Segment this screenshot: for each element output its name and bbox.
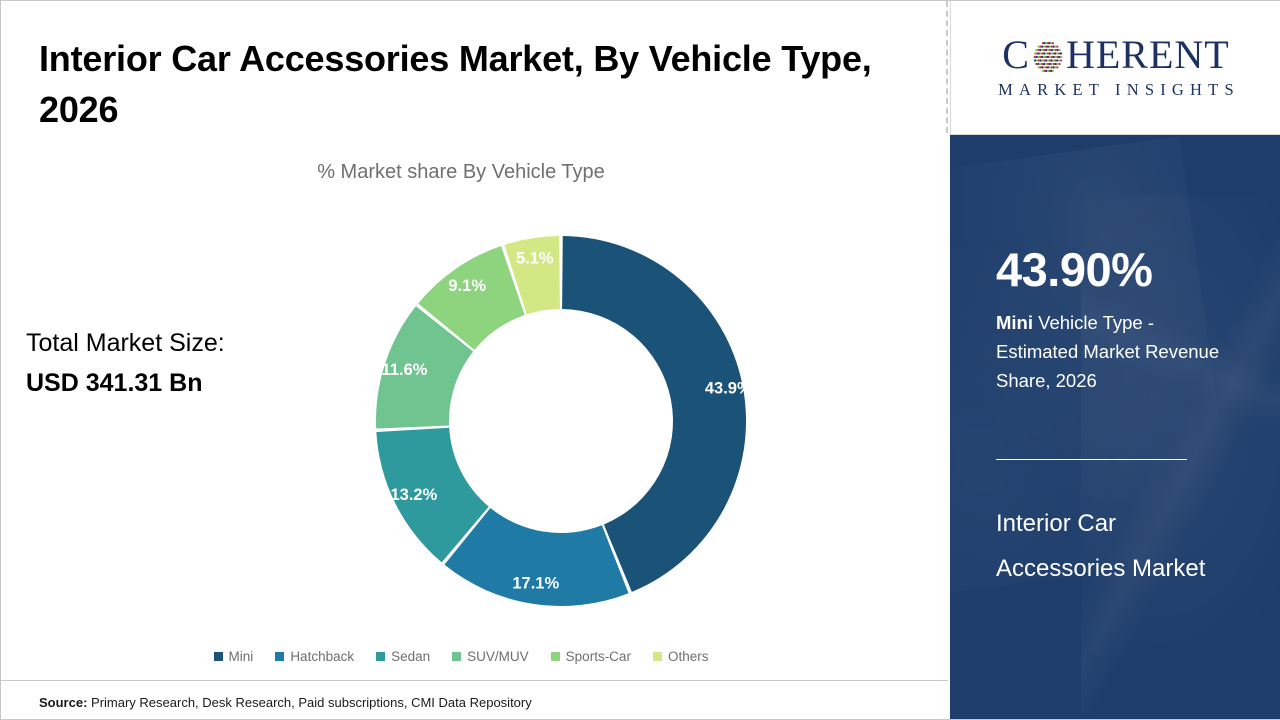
- donut-slice-label: 11.6%: [382, 361, 428, 379]
- source-line: Source: Primary Research, Desk Research,…: [39, 695, 532, 710]
- chart-area: Interior Car Accessories Market, By Vehi…: [1, 1, 948, 719]
- logo-letters-herent: HERENT: [1066, 35, 1230, 75]
- brand-logo: C HERENT MARKET INSIGHTS: [950, 1, 1280, 135]
- donut-slice-label: 9.1%: [448, 277, 486, 295]
- logo-tagline: MARKET INSIGHTS: [992, 80, 1240, 100]
- donut-slice-label: 13.2%: [391, 486, 438, 504]
- legend-swatch-icon: [376, 652, 385, 661]
- dotted-globe-svg: [1031, 40, 1065, 74]
- legend-swatch-icon: [214, 652, 223, 661]
- total-market-size-block: Total Market Size: USD 341.31 Bn: [26, 323, 316, 403]
- legend-label: SUV/MUV: [467, 649, 529, 664]
- donut-slice-label: 17.1%: [512, 575, 559, 593]
- legend-item-mini[interactable]: Mini: [214, 649, 254, 664]
- legend-label: Sports-Car: [566, 649, 631, 664]
- legend-swatch-icon: [551, 652, 560, 661]
- legend-label: Sedan: [391, 649, 430, 664]
- dotted-globe-icon: [1031, 40, 1065, 74]
- legend-item-hatchback[interactable]: Hatchback: [275, 649, 354, 664]
- donut-chart-svg: 43.9%17.1%13.2%11.6%9.1%5.1%: [361, 221, 761, 621]
- donut-slice-label: 43.9%: [705, 380, 752, 398]
- right-panel: C HERENT MARKET INSIGHTS 43.90% Mini Veh…: [950, 1, 1280, 719]
- infographic-page: Interior Car Accessories Market, By Vehi…: [0, 0, 1280, 720]
- chart-subtitle: % Market share By Vehicle Type: [1, 161, 921, 184]
- donut-slice-group: [376, 236, 746, 606]
- legend-item-sports-car[interactable]: Sports-Car: [551, 649, 631, 664]
- highlight-stat-value: 43.90%: [996, 246, 1152, 293]
- dashed-divider: [946, 1, 948, 133]
- source-text: Primary Research, Desk Research, Paid su…: [91, 695, 532, 710]
- legend-swatch-icon: [653, 652, 662, 661]
- total-market-size-value: USD 341.31 Bn: [26, 363, 316, 403]
- panel-divider: [996, 459, 1187, 460]
- right-panel-body: 43.90% Mini Vehicle Type - Estimated Mar…: [950, 135, 1280, 719]
- logo-letter-c: C: [1002, 35, 1030, 75]
- highlight-stat-segment-name: Mini: [996, 312, 1033, 333]
- legend-item-sedan[interactable]: Sedan: [376, 649, 430, 664]
- chart-legend: MiniHatchbackSedanSUV/MUVSports-CarOther…: [1, 649, 921, 664]
- legend-swatch-icon: [452, 652, 461, 661]
- legend-label: Mini: [229, 649, 254, 664]
- page-title: Interior Car Accessories Market, By Vehi…: [39, 33, 919, 135]
- legend-item-others[interactable]: Others: [653, 649, 709, 664]
- legend-label: Hatchback: [290, 649, 354, 664]
- legend-item-suv-muv[interactable]: SUV/MUV: [452, 649, 529, 664]
- source-label: Source:: [39, 695, 87, 710]
- highlight-stat-caption: Mini Vehicle Type - Estimated Market Rev…: [996, 308, 1226, 395]
- legend-swatch-icon: [275, 652, 284, 661]
- donut-chart: 43.9%17.1%13.2%11.6%9.1%5.1%: [361, 221, 761, 621]
- donut-slice-label: 5.1%: [516, 250, 554, 268]
- source-divider: [1, 680, 948, 681]
- total-market-size-label: Total Market Size:: [26, 323, 316, 363]
- logo-wordmark: C HERENT: [1002, 35, 1229, 75]
- legend-label: Others: [668, 649, 709, 664]
- panel-market-name: Interior Car Accessories Market: [996, 501, 1246, 591]
